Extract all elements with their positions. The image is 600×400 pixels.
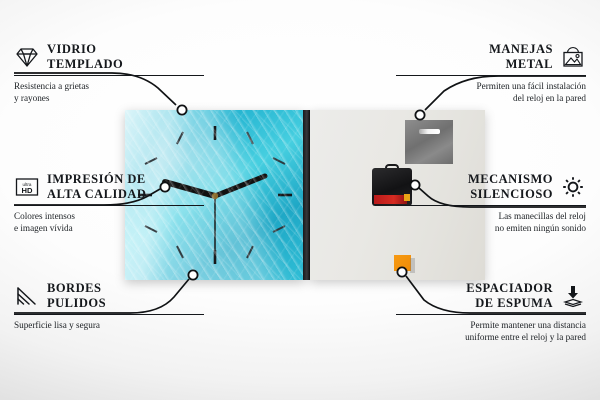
feature-subtitle-line1: Superficie lisa y segura xyxy=(14,319,204,331)
feature-impresion-alta-calidad: ultra HD IMPRESIÓN DE ALTA CALIDAD Color… xyxy=(14,172,204,235)
foam-spacer xyxy=(394,255,411,271)
feature-title-line2: PULIDOS xyxy=(47,296,106,311)
divider xyxy=(14,205,204,206)
feature-title-line1: IMPRESIÓN DE xyxy=(47,172,146,187)
gear-icon xyxy=(560,174,586,200)
feature-title-line1: MANEJAS xyxy=(489,42,553,57)
feature-title-line2: DE ESPUMA xyxy=(466,296,553,311)
svg-text:HD: HD xyxy=(22,186,33,195)
divider xyxy=(14,314,204,315)
feature-subtitle-line2: no emiten ningún sonido xyxy=(396,222,586,234)
divider xyxy=(14,75,204,76)
feature-mecanismo-silencioso: MECANISMO SILENCIOSO Las manecillas del … xyxy=(396,172,586,235)
picture-hanger-icon xyxy=(560,44,586,70)
clock-glass-edge xyxy=(303,110,310,280)
feature-espaciador-espuma: ESPACIADOR DE ESPUMA Permite mantener un… xyxy=(396,281,586,344)
feature-title-line1: BORDES xyxy=(47,281,106,296)
feature-title-line2: ALTA CALIDAD xyxy=(47,187,146,202)
polished-edges-icon xyxy=(14,283,40,309)
feature-title-line1: ESPACIADOR xyxy=(466,281,553,296)
divider xyxy=(396,205,586,206)
feature-subtitle-line1: Permite mantener una distancia xyxy=(396,319,586,331)
feature-subtitle-line1: Colores intensos xyxy=(14,210,204,222)
feature-title-line1: VIDRIO xyxy=(47,42,123,57)
feature-subtitle-line1: Las manecillas del reloj xyxy=(396,210,586,222)
ultra-hd-icon: ultra HD xyxy=(14,174,40,200)
feature-bordes-pulidos: BORDES PULIDOS Superficie lisa y segura xyxy=(14,281,204,331)
feature-title-line2: SILENCIOSO xyxy=(468,187,553,202)
foam-spacer-icon xyxy=(560,283,586,309)
divider xyxy=(396,75,586,76)
hanger-slot xyxy=(419,129,440,134)
metal-hanger-plate xyxy=(405,120,453,164)
feature-title-line2: METAL xyxy=(489,57,553,72)
diamond-icon xyxy=(14,44,40,70)
feature-vidrio-templado: VIDRIO TEMPLADO Resistencia a grietas y … xyxy=(14,42,204,105)
feature-subtitle-line2: uniforme entre el reloj y la pared xyxy=(396,331,586,343)
feature-title-line1: MECANISMO xyxy=(468,172,553,187)
foam-spacer-shadow xyxy=(410,258,415,273)
feature-subtitle-line2: del reloj en la pared xyxy=(396,92,586,104)
feature-subtitle-line1: Resistencia a grietas xyxy=(14,80,204,92)
feature-manejas-metal: MANEJAS METAL Permiten una fácil instala… xyxy=(396,42,586,105)
feature-title-line2: TEMPLADO xyxy=(47,57,123,72)
infographic-stage: VIDRIO TEMPLADO Resistencia a grietas y … xyxy=(0,0,600,400)
feature-subtitle-line1: Permiten una fácil instalación xyxy=(396,80,586,92)
feature-subtitle-line2: y rayones xyxy=(14,92,204,104)
feature-subtitle-line2: e imagen vívida xyxy=(14,222,204,234)
divider xyxy=(396,314,586,315)
